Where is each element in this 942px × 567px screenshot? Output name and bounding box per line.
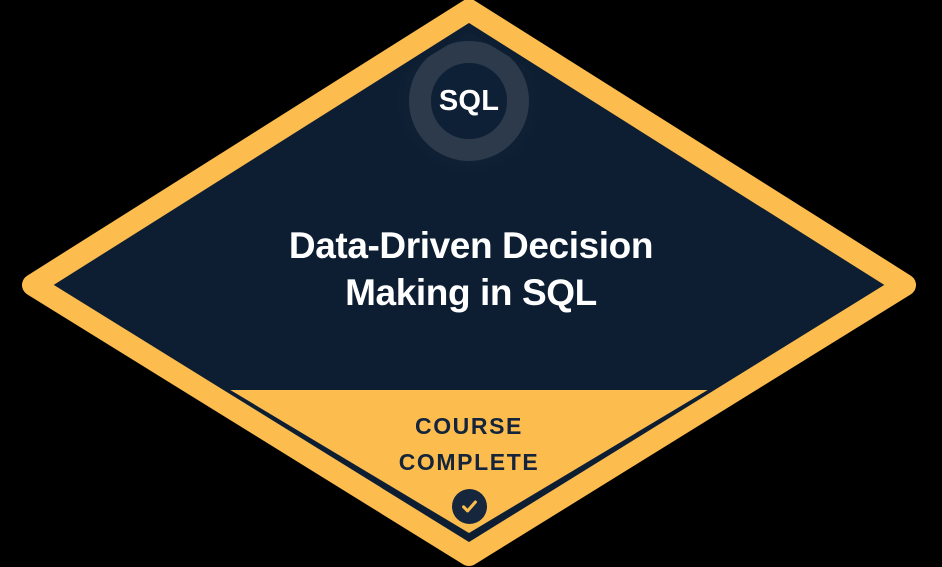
status-badge: COURSE COMPLETE	[221, 408, 717, 480]
status-line-1: COURSE	[221, 408, 717, 444]
sql-emblem-label: SQL	[439, 87, 499, 116]
page-title: Data-Driven Decision Making in SQL	[110, 222, 832, 316]
sql-emblem: SQL	[409, 41, 529, 161]
page-title-line-2: Making in SQL	[110, 269, 832, 316]
status-line-2: COMPLETE	[221, 444, 717, 480]
page-title-line-1: Data-Driven Decision	[110, 222, 832, 269]
check-circle-icon	[452, 489, 487, 524]
course-completion-badge: SQL Data-Driven Decision Making in SQL C…	[0, 0, 942, 567]
status-block: COURSE COMPLETE	[221, 408, 717, 524]
